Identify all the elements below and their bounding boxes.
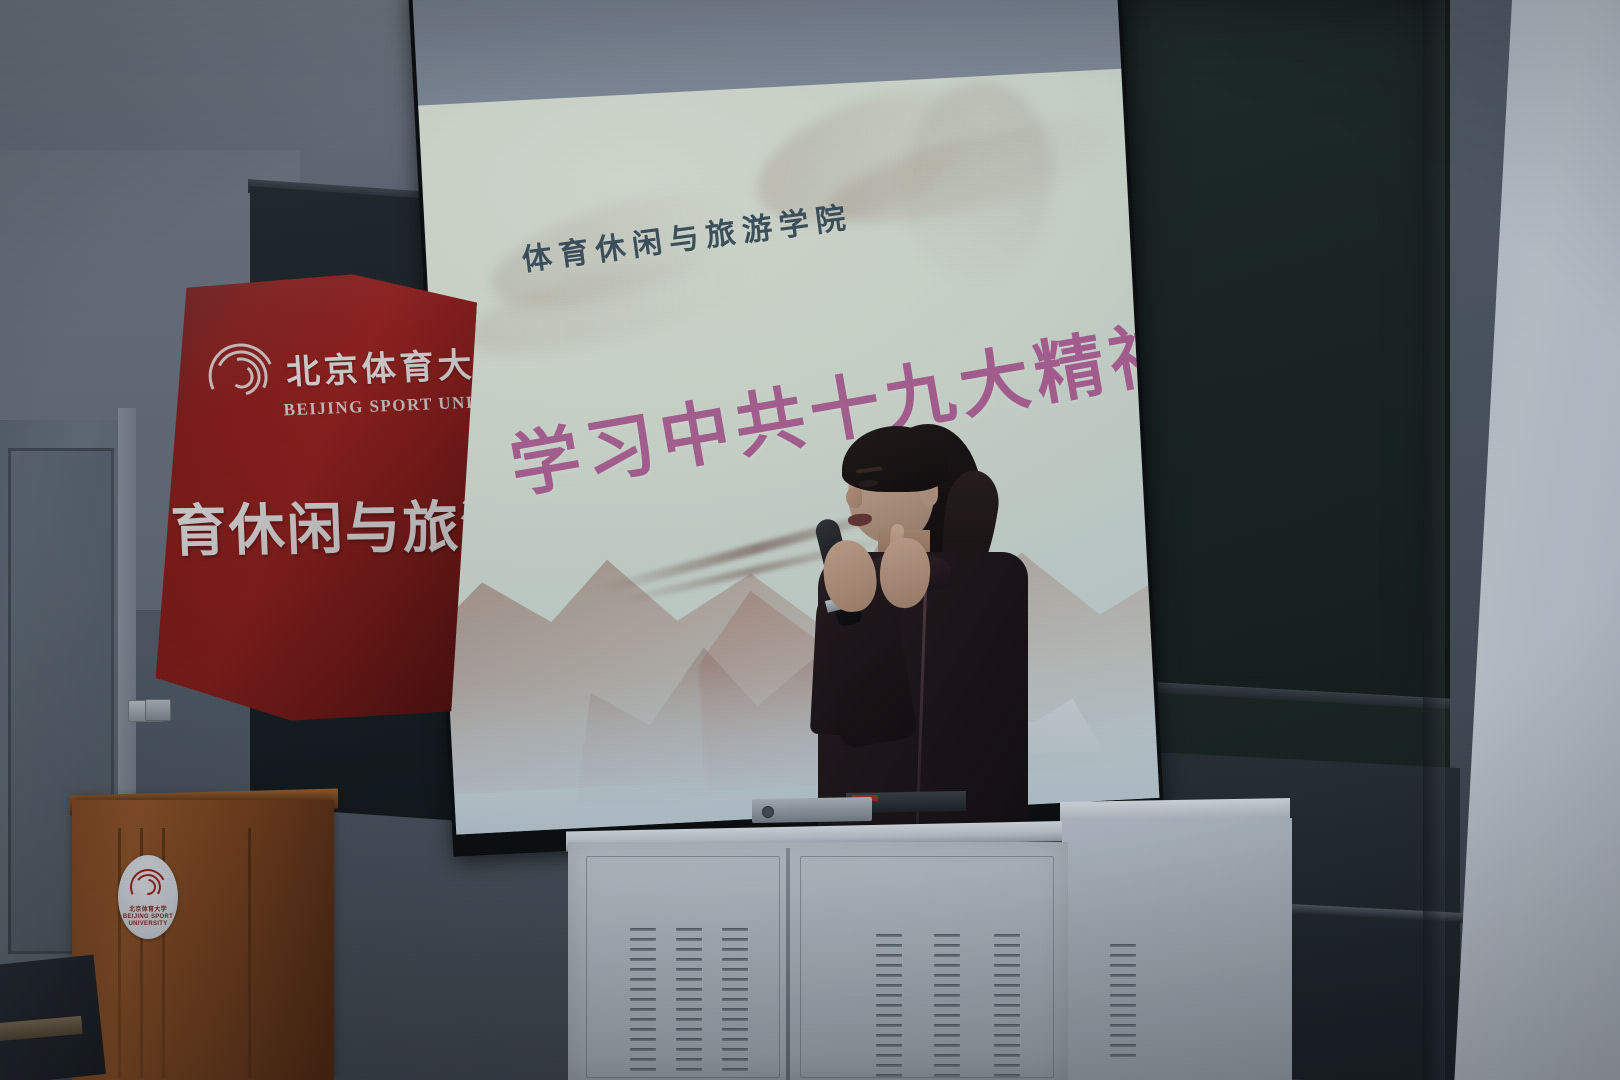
podium-emblem-line2: BEIJING SPORT (123, 914, 173, 920)
louver-vent (994, 934, 1020, 1080)
bsu-spiral-logo (209, 343, 275, 411)
louver-vent (630, 928, 656, 1078)
podium-groove (248, 828, 251, 1078)
side-cabinet (1062, 818, 1292, 1080)
wall-power-outlet[interactable] (145, 699, 171, 721)
podium-emblem-line1: 北京体育大学 (129, 907, 167, 913)
podium-emblem-line3: UNIVERSITY (128, 921, 167, 927)
equipment-knob[interactable] (762, 806, 774, 818)
louver-vent (1110, 944, 1136, 1064)
right-wall-edge (1423, 0, 1445, 1080)
louver-vent (676, 928, 702, 1078)
cabinet-divider (786, 848, 790, 1080)
projected-slide: 体育休闲与旅游学院 学习中共十九大精神讲座 (418, 69, 1159, 835)
lecture-hall-photo: 体育休闲与旅游学院 学习中共十九大精神讲座 北京体育大学 BEIJING SPO… (0, 0, 1620, 1080)
projection-screen: 体育休闲与旅游学院 学习中共十九大精神讲座 (408, 0, 1165, 857)
chalkboard-right (1120, 0, 1450, 759)
louver-vent (876, 934, 902, 1080)
red-banner: 北京体育大学 BEIJING SPORT UNIVERSI 育休闲与旅游学院 (154, 260, 478, 734)
wooden-podium (72, 800, 334, 1080)
louver-vent (934, 934, 960, 1080)
louver-vent (722, 928, 748, 1078)
podium-groove (118, 828, 121, 1078)
podium-emblem: 北京体育大学 BEIJING SPORT UNIVERSITY (118, 855, 178, 939)
bsu-spiral-logo (130, 869, 166, 905)
presenter (812, 418, 1030, 838)
banner-department-name: 育休闲与旅游学院 (169, 482, 472, 567)
podium-emblem-text: 北京体育大学 BEIJING SPORT UNIVERSITY (118, 907, 178, 928)
presenter-nose (846, 488, 862, 508)
